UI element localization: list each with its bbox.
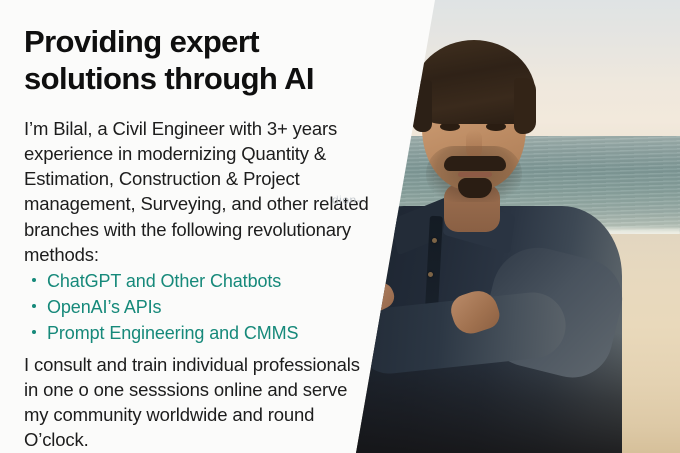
list-item: ChatGPT and Other Chatbots xyxy=(30,268,298,294)
intro-paragraph: I’m Bilal, a Civil Engineer with 3+ year… xyxy=(24,116,370,267)
bullet-dot-icon xyxy=(32,304,36,308)
watermark-text: dion- xyxy=(332,193,361,207)
hair-side-right xyxy=(514,78,536,134)
list-item-label: ChatGPT and Other Chatbots xyxy=(47,271,281,291)
mustache xyxy=(444,156,506,171)
profile-photo xyxy=(340,0,680,453)
gig-banner: Providing expert solutions through AI I’… xyxy=(0,0,680,453)
person-figure xyxy=(340,0,680,453)
shirt-button xyxy=(432,238,437,243)
nose xyxy=(466,130,482,158)
page-title: Providing expert solutions through AI xyxy=(24,24,354,97)
list-item: OpenAI’s APIs xyxy=(30,294,298,320)
services-list: ChatGPT and Other Chatbots OpenAI’s APIs… xyxy=(30,268,298,346)
list-item-label: Prompt Engineering and CMMS xyxy=(47,323,298,343)
hair-side-left xyxy=(412,80,432,132)
outro-paragraph: I consult and train individual professio… xyxy=(24,352,364,453)
bullet-dot-icon xyxy=(32,330,36,334)
shirt-button xyxy=(428,272,433,277)
list-item: Prompt Engineering and CMMS xyxy=(30,320,298,346)
text-column: Providing expert solutions through AI I’… xyxy=(0,0,372,453)
bullet-dot-icon xyxy=(32,278,36,282)
goatee xyxy=(458,178,492,198)
mouth xyxy=(458,172,492,177)
list-item-label: OpenAI’s APIs xyxy=(47,297,161,317)
